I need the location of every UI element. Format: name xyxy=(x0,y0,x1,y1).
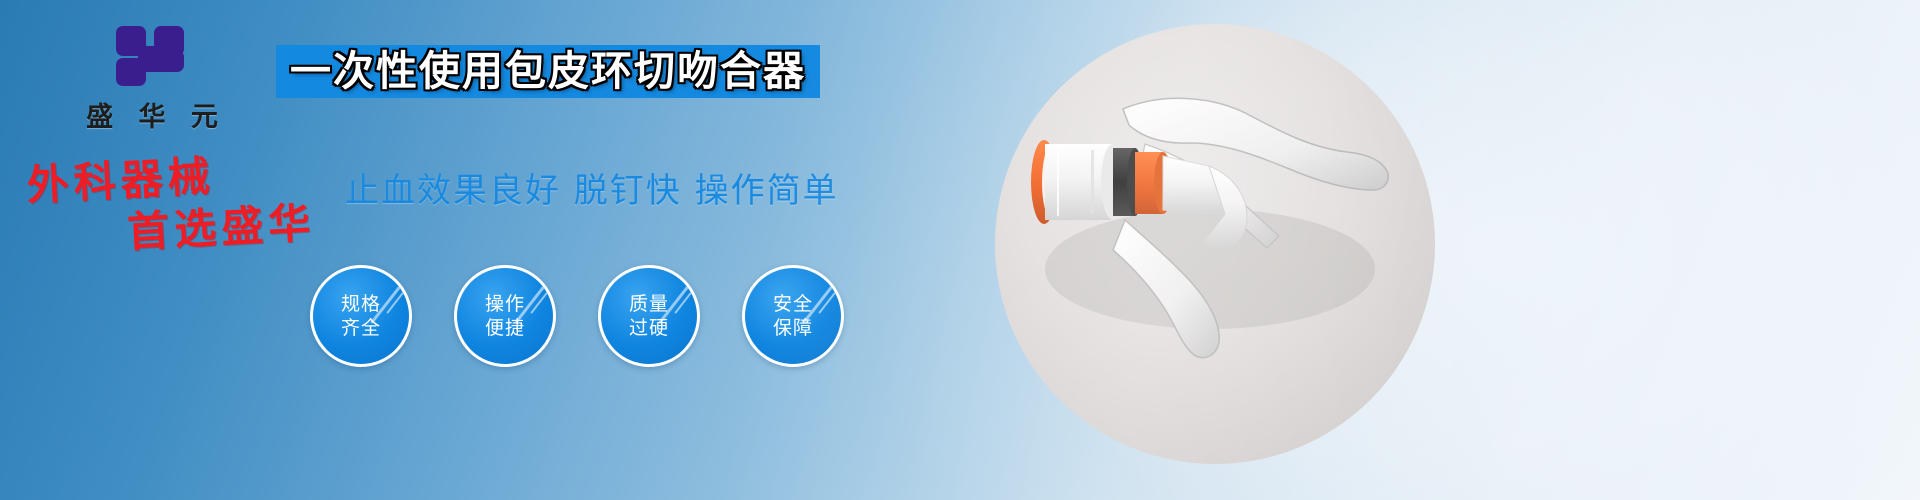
feature-label-line2: 齐全 xyxy=(341,316,381,340)
logo-mark-icon xyxy=(114,24,190,88)
barrel-groove xyxy=(1091,150,1094,214)
headline-title: 一次性使用包皮环切吻合器 xyxy=(276,45,820,98)
logo-square-bottom-right xyxy=(154,50,184,72)
company-name: 盛 华 元 xyxy=(62,95,242,134)
brand-logo[interactable]: 盛 华 元 xyxy=(62,24,242,134)
product-image xyxy=(995,24,1435,464)
promo-banner: 盛 华 元 外科器械 首选盛华 一次性使用包皮环切吻合器 止血效果良好 脱钉快 … xyxy=(0,0,1920,500)
logo-square-bottom-left xyxy=(116,58,146,86)
calligraphy-slogan: 外科器械 首选盛华 xyxy=(16,143,351,264)
feature-label-line2: 便捷 xyxy=(485,316,525,340)
barrel-highlight xyxy=(1057,148,1059,216)
feature-badges: 规格 齐全 操作 便捷 质量 过硬 安全 保障 xyxy=(310,265,844,367)
product-illustration xyxy=(995,24,1435,464)
feature-badge-specifications[interactable]: 规格 齐全 xyxy=(310,265,412,367)
feature-label-line1: 质量 xyxy=(629,292,669,316)
feature-badge-operation[interactable]: 操作 便捷 xyxy=(454,265,556,367)
feature-label-line1: 操作 xyxy=(485,292,525,316)
feature-label-line1: 规格 xyxy=(341,292,381,316)
feature-badge-quality[interactable]: 质量 过硬 xyxy=(598,265,700,367)
feature-label-line2: 保障 xyxy=(773,316,813,340)
subheadline: 止血效果良好 脱钉快 操作简单 xyxy=(345,163,839,212)
feature-label-line2: 过硬 xyxy=(629,316,669,340)
feature-label-line1: 安全 xyxy=(773,292,813,316)
feature-badge-safety[interactable]: 安全 保障 xyxy=(742,265,844,367)
